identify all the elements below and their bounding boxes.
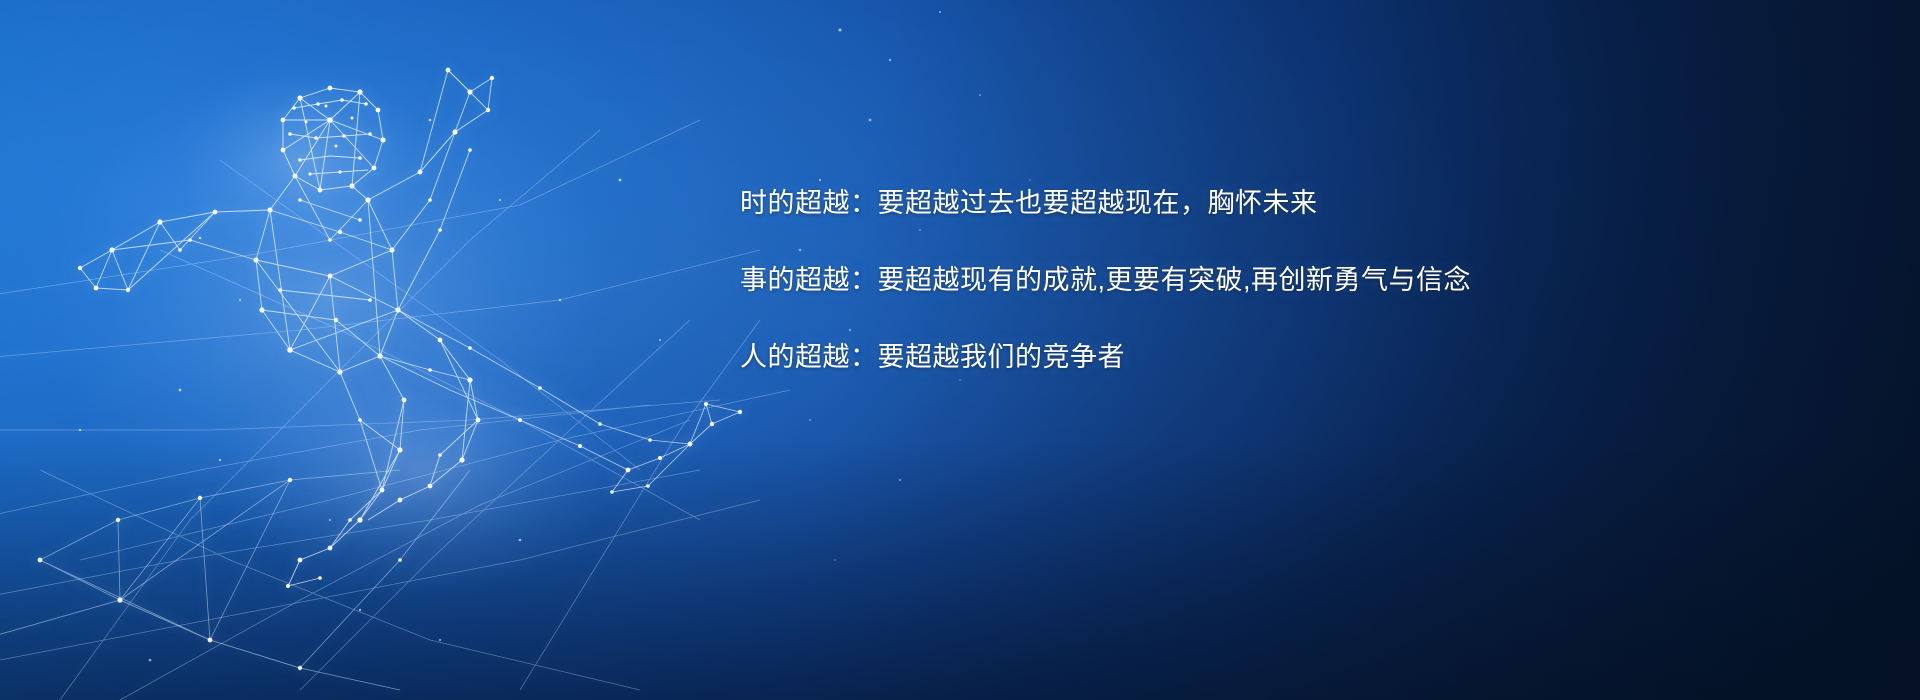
hero-banner: 时的超越：要超越过去也要超越现在，胸怀未来 事的超越：要超越现有的成就,更要有突… <box>0 0 1920 700</box>
slogan-line-time: 时的超越：要超越过去也要超越现在，胸怀未来 <box>740 190 1860 217</box>
background-bottom-shadow <box>0 440 1920 700</box>
slogan-line-matter: 事的超越：要超越现有的成就,更要有突破,再创新勇气与信念 <box>740 267 1860 294</box>
slogan-line-people: 人的超越：要超越我们的竞争者 <box>740 344 1860 371</box>
slogan-text-block: 时的超越：要超越过去也要超越现在，胸怀未来 事的超越：要超越现有的成就,更要有突… <box>740 190 1860 371</box>
